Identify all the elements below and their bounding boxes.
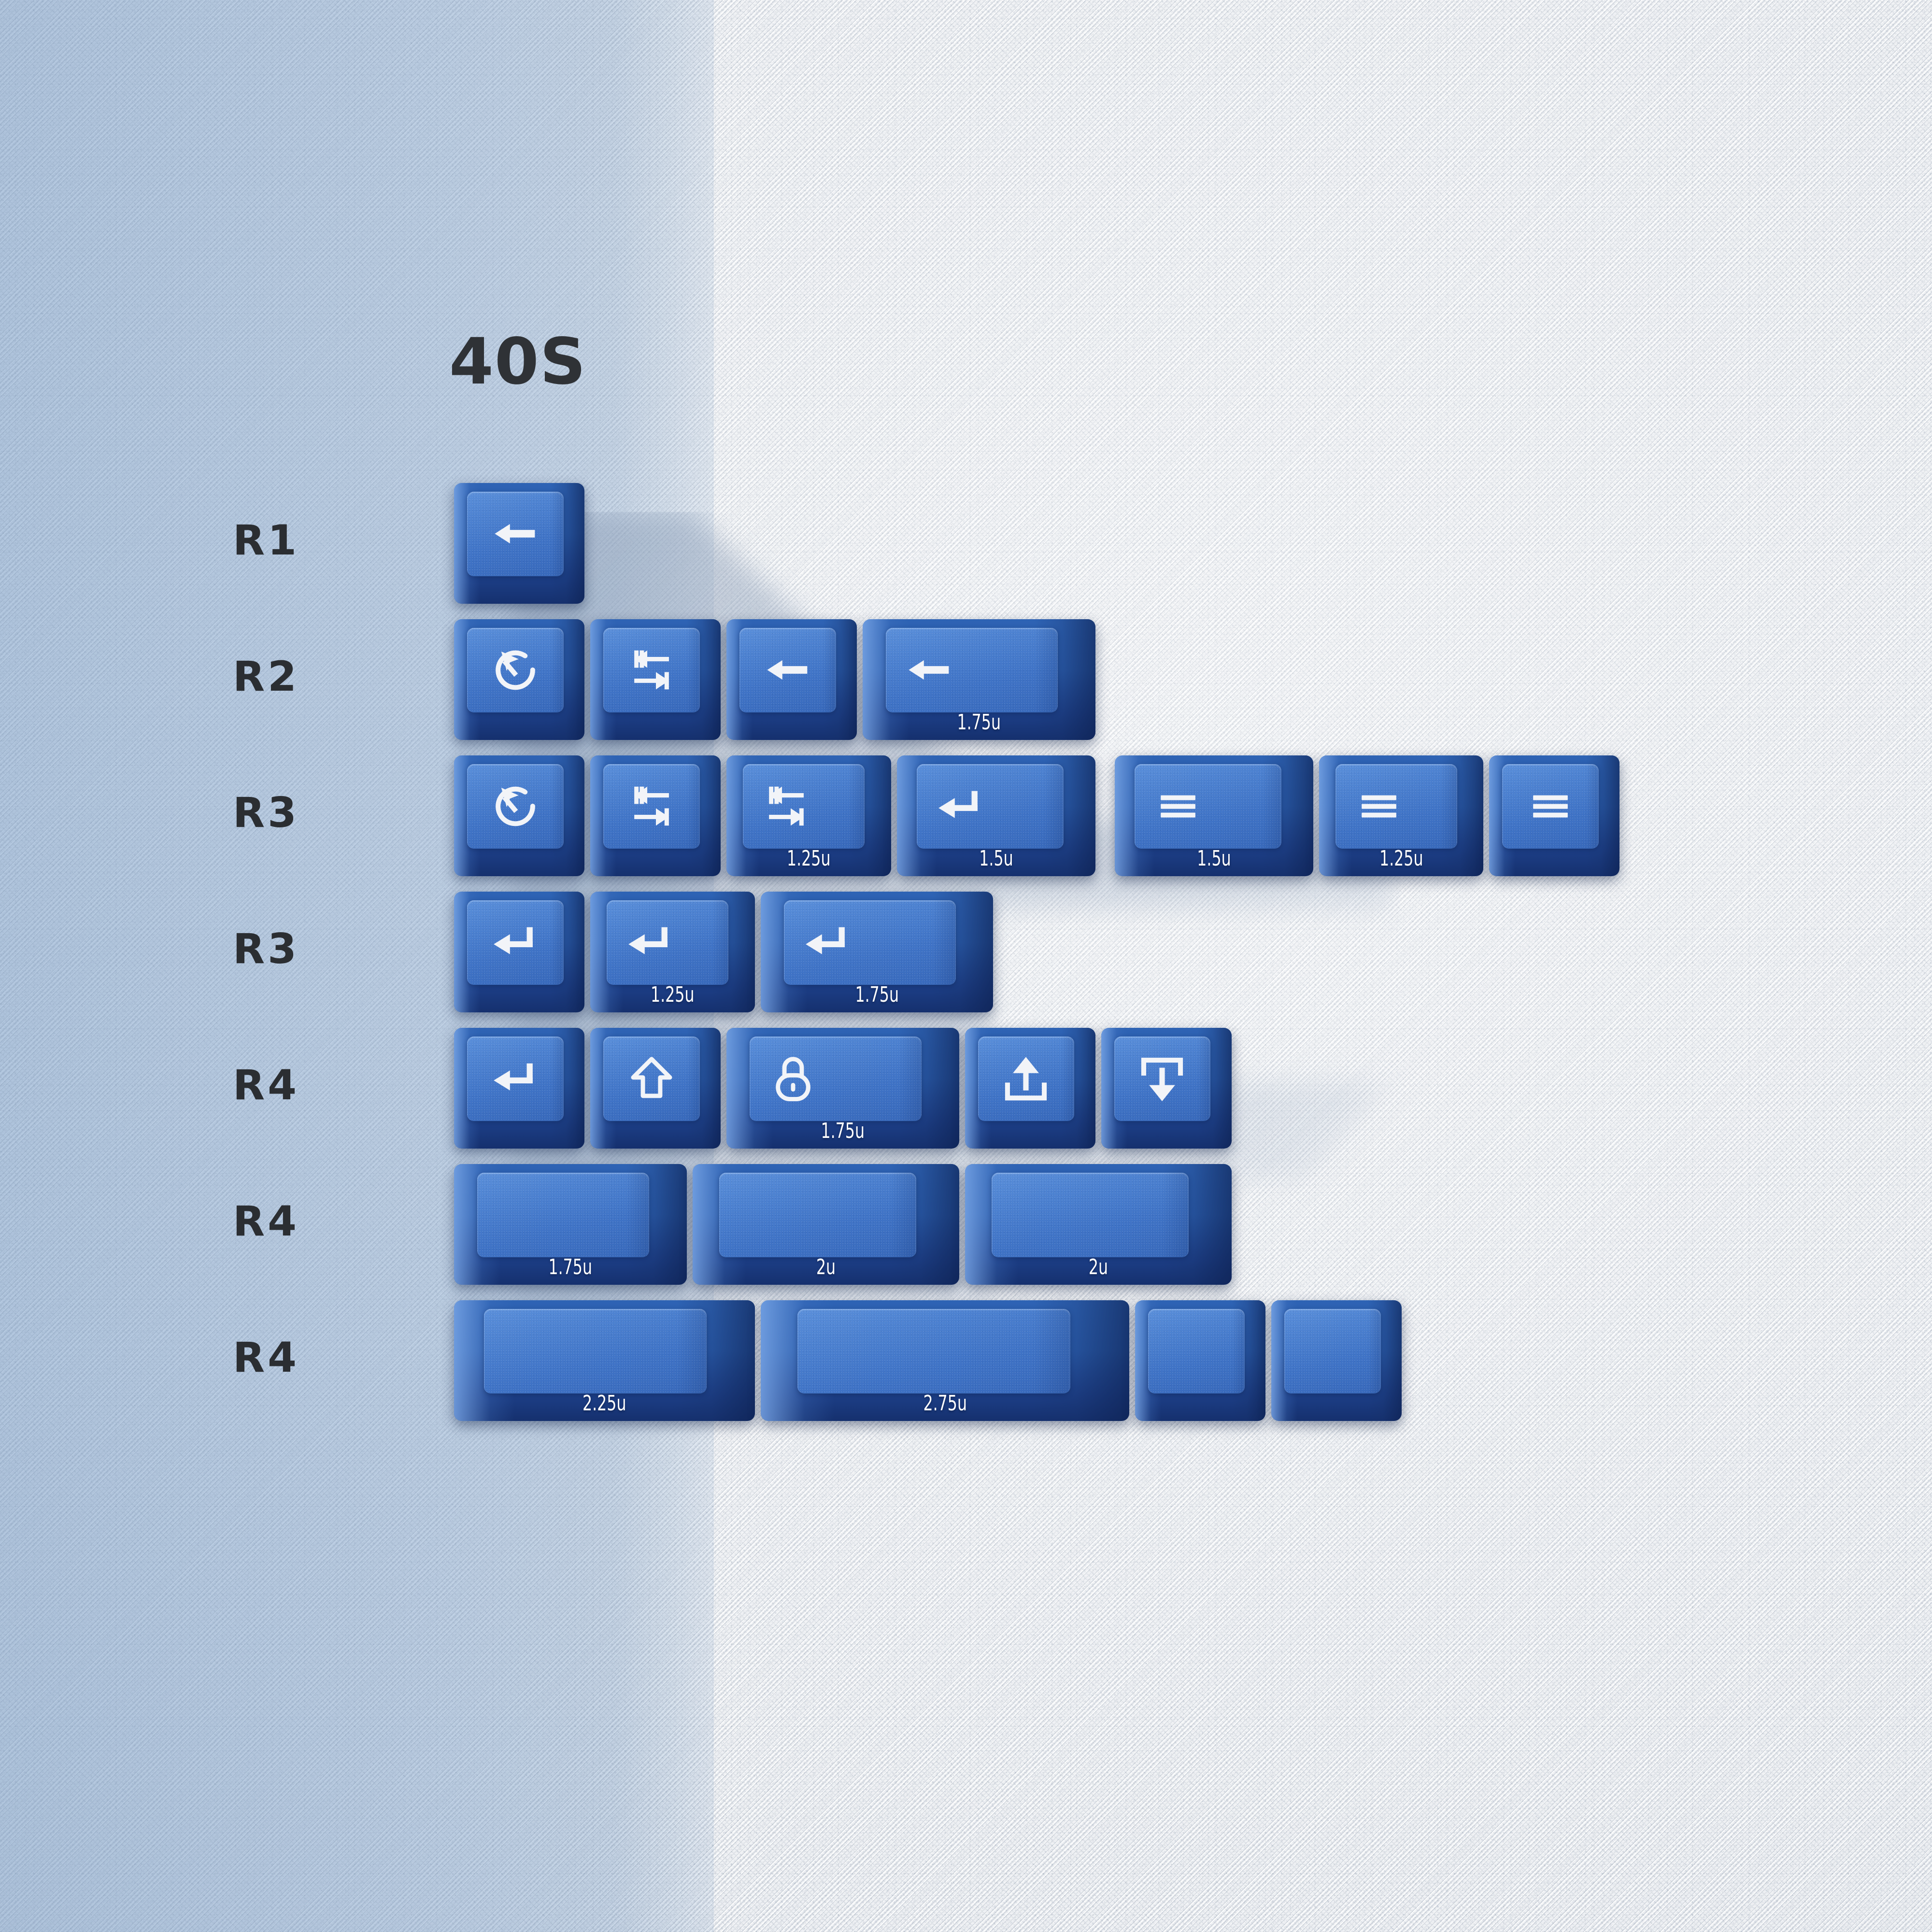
enter-icon — [467, 1037, 564, 1121]
keycap-body — [454, 483, 584, 604]
page-down-icon — [1114, 1037, 1211, 1121]
keycap-top-surface — [1114, 1037, 1211, 1121]
keycap-page-up-1u[interactable] — [965, 1028, 1095, 1149]
keycap-arrow-left-1u[interactable] — [726, 619, 857, 740]
keycap-body — [726, 1028, 959, 1149]
tab-icon — [743, 764, 865, 849]
keycap-body — [761, 1300, 1130, 1421]
menu-icon — [1135, 764, 1281, 849]
blank-legend — [477, 1173, 649, 1257]
keycap-top-surface — [1502, 764, 1599, 849]
keycap-top-surface — [917, 764, 1064, 849]
enter-icon — [607, 900, 728, 985]
keycap-body — [454, 1300, 755, 1421]
keycap-blank-2.75u[interactable]: 2.75u — [761, 1300, 1130, 1421]
keycap-top-surface — [784, 900, 956, 985]
keycap-top-surface — [743, 764, 865, 849]
keycap-body — [965, 1164, 1232, 1285]
keycap-body — [454, 892, 584, 1012]
keycap-body — [726, 619, 857, 740]
keycap-body — [454, 1028, 584, 1149]
keycap-top-surface — [978, 1037, 1075, 1121]
keycap-top-surface — [603, 1037, 700, 1121]
keycap-blank-1u[interactable] — [1271, 1300, 1402, 1421]
menu-icon — [1502, 764, 1599, 849]
keycap-body — [693, 1164, 959, 1285]
rotate-ccw-icon — [467, 628, 564, 712]
keycap-enter-1u[interactable] — [454, 1028, 584, 1149]
keycap-top-surface — [1284, 1309, 1381, 1393]
keycap-body — [1101, 1028, 1232, 1149]
keycap-top-surface — [1335, 764, 1457, 849]
arrow-left-icon — [886, 628, 1058, 712]
blank-legend — [1284, 1309, 1381, 1393]
keycap-top-surface — [467, 628, 564, 712]
keycap-blank-1.75u[interactable]: 1.75u — [454, 1164, 687, 1285]
keycap-tab-1u[interactable] — [590, 619, 721, 740]
keycap-enter-1.25u[interactable]: 1.25u — [590, 892, 755, 1012]
tab-icon — [603, 764, 700, 849]
page-up-icon — [978, 1037, 1075, 1121]
keycap-blank-2u[interactable]: 2u — [693, 1164, 959, 1285]
keycap-top-surface — [719, 1173, 917, 1257]
keycap-grid: 1.75u1.25u1.5u1.5u1.25u1.25u1.75u1.75u1.… — [0, 0, 1932, 1932]
tab-icon — [603, 628, 700, 712]
keycap-body — [1271, 1300, 1402, 1421]
keycap-top-surface — [467, 1037, 564, 1121]
shift-icon — [603, 1037, 700, 1121]
keycap-body — [454, 1164, 687, 1285]
keycap-top-surface — [1135, 764, 1281, 849]
keycap-body — [454, 619, 584, 740]
enter-icon — [917, 764, 1064, 849]
keycap-tab-1.25u[interactable]: 1.25u — [726, 755, 891, 876]
blank-legend — [719, 1173, 917, 1257]
keycap-body — [1135, 1300, 1265, 1421]
keycap-body — [761, 892, 994, 1012]
keycap-body — [965, 1028, 1095, 1149]
keycap-top-surface — [992, 1173, 1189, 1257]
keycap-tab-1u[interactable] — [590, 755, 721, 876]
keycap-lock-1.75u[interactable]: 1.75u — [726, 1028, 959, 1149]
keycap-menu-1.25u[interactable]: 1.25u — [1319, 755, 1484, 876]
blank-legend — [992, 1173, 1189, 1257]
keycap-top-surface — [603, 628, 700, 712]
keycap-body — [863, 619, 1095, 740]
keycap-blank-1u[interactable] — [1135, 1300, 1265, 1421]
keycap-top-surface — [467, 492, 564, 576]
keycap-top-surface — [739, 628, 836, 712]
arrow-left-icon — [467, 492, 564, 576]
blank-legend — [484, 1309, 707, 1393]
keycap-rotate-ccw-1u[interactable] — [454, 619, 584, 740]
blank-legend — [1148, 1309, 1245, 1393]
blank-legend — [797, 1309, 1070, 1393]
keycap-body — [897, 755, 1095, 876]
keycap-body — [454, 755, 584, 876]
keycap-top-surface — [467, 900, 564, 985]
keycap-menu-1.5u[interactable]: 1.5u — [1115, 755, 1313, 876]
menu-icon — [1335, 764, 1457, 849]
keycap-body — [1319, 755, 1484, 876]
keycap-page-down-1u[interactable] — [1101, 1028, 1232, 1149]
keycap-menu-1u[interactable] — [1489, 755, 1619, 876]
keycap-top-surface — [797, 1309, 1070, 1393]
keycap-enter-1.75u[interactable]: 1.75u — [761, 892, 994, 1012]
keycap-enter-1.5u[interactable]: 1.5u — [897, 755, 1095, 876]
keycap-arrow-left-1.75u[interactable]: 1.75u — [863, 619, 1095, 740]
keycap-top-surface — [750, 1037, 922, 1121]
keycap-body — [1489, 755, 1619, 876]
keycap-body — [590, 892, 755, 1012]
rotate-ccw-icon — [467, 764, 564, 849]
keycap-top-surface — [484, 1309, 707, 1393]
arrow-left-icon — [739, 628, 836, 712]
keycap-blank-2u[interactable]: 2u — [965, 1164, 1232, 1285]
keycap-body — [1115, 755, 1313, 876]
keycap-arrow-left-1u[interactable] — [454, 483, 584, 604]
keycap-top-surface — [477, 1173, 649, 1257]
keycap-body — [590, 755, 721, 876]
keycap-body — [590, 1028, 721, 1149]
keycap-top-surface — [467, 764, 564, 849]
keycap-top-surface — [603, 764, 700, 849]
enter-icon — [467, 900, 564, 985]
keycap-blank-2.25u[interactable]: 2.25u — [454, 1300, 755, 1421]
lock-icon — [750, 1037, 922, 1121]
keycap-top-surface — [886, 628, 1058, 712]
keycap-body — [590, 619, 721, 740]
keycap-enter-1u[interactable] — [454, 892, 584, 1012]
keycap-body — [726, 755, 891, 876]
keycap-rotate-ccw-1u[interactable] — [454, 755, 584, 876]
keycap-top-surface — [1148, 1309, 1245, 1393]
keycap-shift-1u[interactable] — [590, 1028, 721, 1149]
keycap-top-surface — [607, 900, 728, 985]
enter-icon — [784, 900, 956, 985]
